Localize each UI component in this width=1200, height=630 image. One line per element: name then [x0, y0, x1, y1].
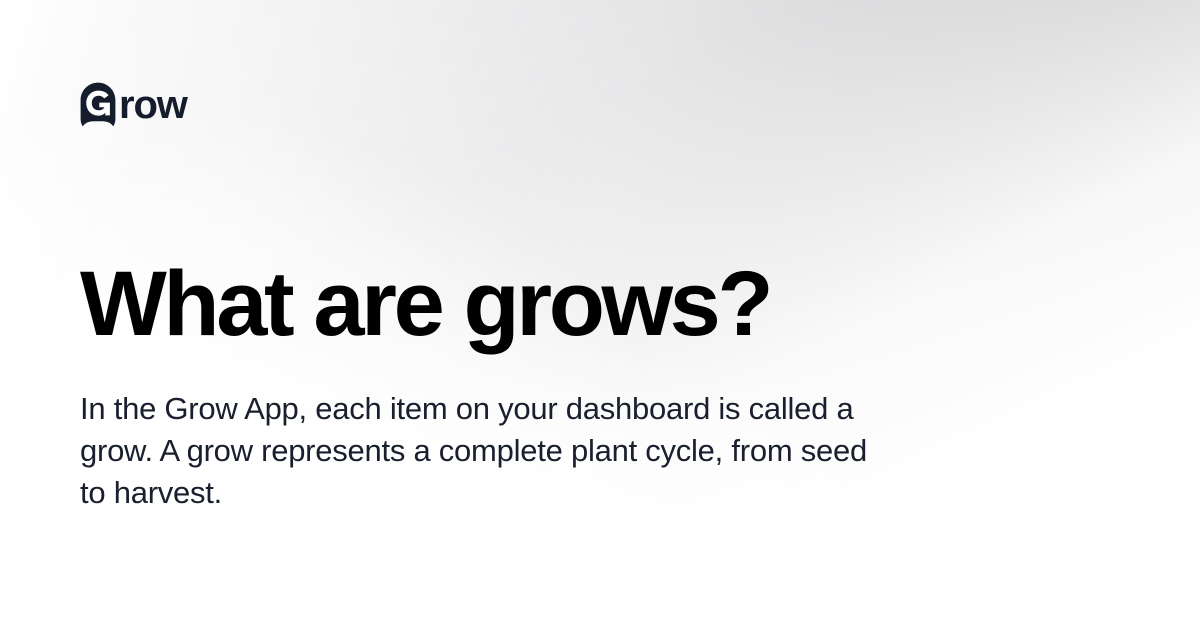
page-title: What are grows?: [80, 258, 770, 350]
promo-card: row What are grows? In the Grow App, eac…: [0, 0, 1200, 630]
body-description: In the Grow App, each item on your dashb…: [80, 388, 890, 514]
grow-seed-logomark-icon: [80, 82, 116, 127]
brand-wordmark: row: [119, 85, 187, 125]
brand-logo[interactable]: row: [80, 82, 187, 127]
content-layer: row What are grows? In the Grow App, eac…: [0, 0, 1200, 630]
